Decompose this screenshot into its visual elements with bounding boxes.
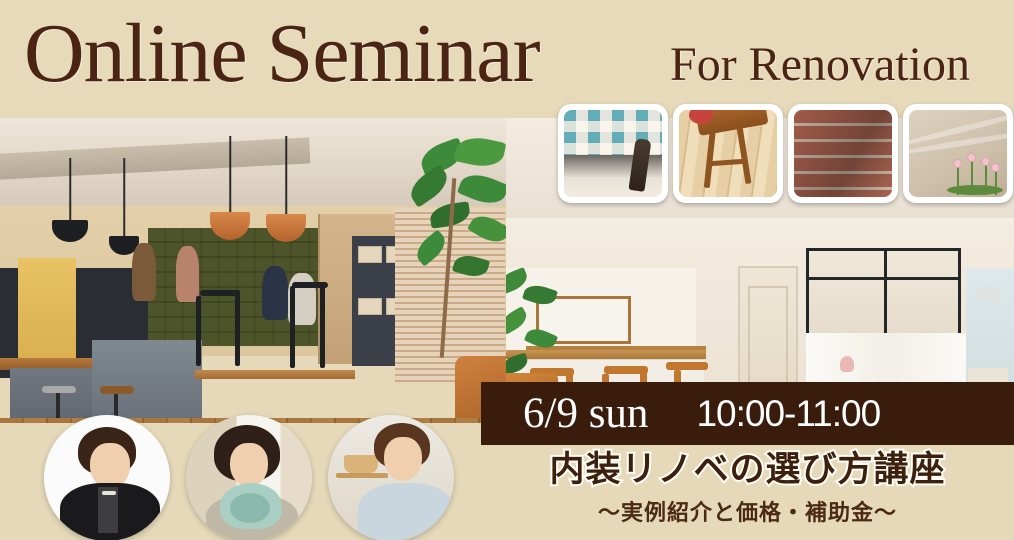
avatar-presenter-1[interactable] [44, 415, 170, 540]
thumbnail-plaster-wall-plant[interactable] [903, 104, 1013, 203]
seminar-time: 10:00-11:00 [696, 393, 880, 435]
dining-chair [235, 290, 240, 366]
face [230, 443, 268, 487]
storage-box [358, 298, 382, 315]
wall-lamp [976, 286, 1002, 302]
bar-stool-seat [42, 386, 76, 393]
scarf-knot [230, 493, 270, 523]
dining-chair [196, 296, 201, 366]
thumbnail-wooden-chair-floor[interactable] [673, 104, 783, 203]
thumbnail-strip [0, 0, 1014, 215]
dining-chair [290, 286, 295, 368]
seminar-date: 6/9 sun [523, 389, 648, 438]
seminar-subtitle-jp: 〜実例紹介と価格・補助金〜 [481, 500, 1014, 528]
yellow-door [18, 258, 76, 368]
face [384, 437, 422, 481]
wall-shelf [336, 473, 388, 478]
avatar-presenter-2[interactable] [186, 415, 312, 540]
basket [344, 455, 378, 473]
storage-box [358, 246, 382, 263]
thumbnail-tile-backsplash-faucet[interactable] [558, 104, 668, 203]
person-standing [132, 243, 156, 301]
chair-back [200, 290, 240, 296]
chair-back [666, 362, 708, 370]
flower-vase [840, 356, 854, 372]
thumbnail-brick-wall[interactable] [788, 104, 898, 203]
dining-chair [320, 286, 325, 368]
person-standing [176, 246, 199, 302]
seminar-banner: Online Seminar For Renovation [0, 0, 1014, 540]
avatar-presenter-3[interactable] [328, 415, 454, 540]
necklace [102, 491, 116, 495]
chair-back [604, 366, 648, 374]
interior-window [806, 248, 961, 338]
brick-shading [794, 110, 892, 197]
dining-table [195, 370, 355, 379]
seminar-title-jp: 内装リノベの選び方講座 [481, 450, 1014, 490]
flower-cluster [947, 153, 1003, 195]
kitchen-island [92, 340, 202, 423]
sweater [358, 483, 454, 540]
person-seated [262, 266, 288, 320]
bar-stool-seat [100, 386, 134, 394]
chair-back [292, 282, 328, 288]
date-time-banner: 6/9 sun 10:00-11:00 [481, 382, 1014, 445]
